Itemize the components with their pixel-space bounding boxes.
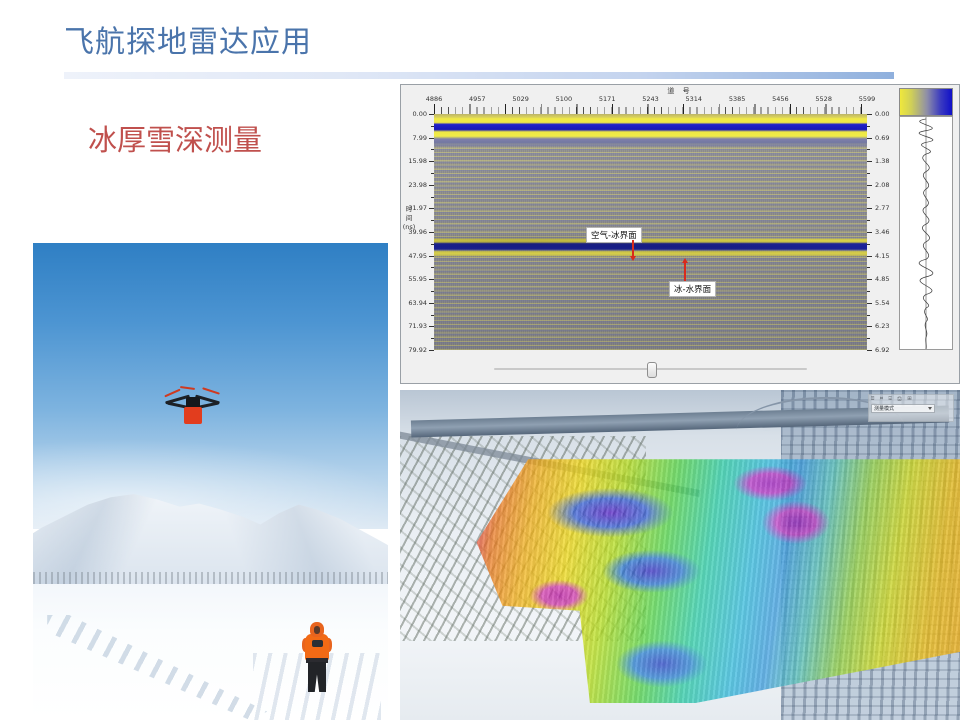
toolbar-icons[interactable]: ⌸ ⌗ ⌹ ⎙ ⊞ (871, 396, 951, 403)
time-tick-mark (429, 350, 434, 351)
radargram-panel[interactable]: 道 号 488649575029510051715243531453855456… (400, 84, 960, 384)
photo-drone-snowfield (33, 243, 388, 720)
depth-tick-label: 1.38 (875, 157, 889, 165)
time-tick-label: 7.99 (413, 134, 427, 142)
mode-dropdown-value: 测量模式 (874, 406, 894, 412)
photo-aerial-heatmap: ⌸ ⌗ ⌹ ⎙ ⊞ 测量模式 (400, 390, 960, 720)
arrow-down-icon (632, 240, 634, 256)
trace-tick-label: 4886 (426, 95, 443, 103)
chevron-down-icon (928, 407, 932, 410)
page-title: 飞航探地雷达应用 (64, 24, 312, 62)
trace-tick-label: 5171 (599, 95, 616, 103)
depth-tick-mark (867, 279, 872, 280)
trace-tick-label: 5528 (815, 95, 832, 103)
trace-ruler-major (434, 104, 867, 114)
time-tick-label: 0.00 (413, 110, 427, 118)
depth-tick-mark-minor (867, 220, 870, 221)
slider-thumb[interactable] (647, 362, 657, 378)
time-tick-label: 63.94 (408, 299, 427, 307)
time-axis-label-l1: 时 (400, 205, 418, 214)
trace-tick-label: 5456 (772, 95, 789, 103)
depth-tick-label: 2.08 (875, 181, 889, 189)
operator-person (296, 622, 339, 694)
annotation-ice-water: 冰-水界面 (669, 281, 716, 297)
time-tick-label: 47.95 (408, 252, 427, 260)
depth-tick-mark (867, 326, 872, 327)
title-divider (64, 72, 894, 79)
depth-tick-mark-minor (867, 315, 870, 316)
aerial-toolbar[interactable]: ⌸ ⌗ ⌹ ⎙ ⊞ 测量模式 (868, 394, 954, 422)
depth-axis: 0.000.691.382.082.773.464.154.855.546.23… (867, 114, 897, 350)
single-trace-waveform (899, 116, 953, 350)
mode-dropdown[interactable]: 测量模式 (871, 404, 935, 413)
time-tick-label: 15.98 (408, 157, 427, 165)
depth-tick-label: 0.69 (875, 134, 889, 142)
depth-tick-mark (867, 161, 872, 162)
trace-tick-label: 5029 (512, 95, 529, 103)
subtitle: 冰厚雪深测量 (88, 122, 262, 160)
time-tick-label: 23.98 (408, 181, 427, 189)
depth-tick-label: 6.92 (875, 346, 889, 354)
depth-tick-mark (867, 256, 872, 257)
trace-tick-label: 5314 (686, 95, 703, 103)
trace-tick-label: 5100 (556, 95, 573, 103)
depth-tick-mark (867, 303, 872, 304)
depth-tick-label: 4.85 (875, 275, 889, 283)
depth-tick-mark (867, 350, 872, 351)
colorbar (899, 88, 953, 116)
waveform-svg (900, 117, 952, 349)
time-tick-label: 55.95 (408, 275, 427, 283)
depth-tick-mark-minor (867, 173, 870, 174)
drone-payload (184, 407, 202, 424)
trace-tick-label: 5599 (859, 95, 876, 103)
horizontal-scroll-slider[interactable] (434, 361, 867, 377)
depth-tick-label: 6.23 (875, 322, 889, 330)
arrow-up-icon (684, 263, 686, 281)
depth-tick-mark-minor (867, 291, 870, 292)
time-axis-label-l3: (ns) (400, 223, 418, 232)
depth-tick-label: 2.77 (875, 204, 889, 212)
trace-tick-label: 4957 (469, 95, 486, 103)
time-axis: 0.007.9915.9823.9831.9739.9647.9555.9563… (401, 114, 434, 350)
depth-tick-label: 5.54 (875, 299, 889, 307)
depth-tick-mark-minor (867, 244, 870, 245)
slide-root: 飞航探地雷达应用 冰厚雪深测量 道 号 4886495750295100517 (0, 0, 960, 720)
depth-tick-mark (867, 208, 872, 209)
depth-tick-mark-minor (867, 267, 870, 268)
time-axis-label: 时 间 (ns) (400, 205, 418, 232)
radargram-image[interactable] (434, 114, 867, 350)
trace-tick-label: 5385 (729, 95, 746, 103)
depth-tick-mark-minor (867, 338, 870, 339)
depth-tick-mark-minor (867, 149, 870, 150)
time-tick-label: 79.92 (408, 346, 427, 354)
depth-tick-label: 4.15 (875, 252, 889, 260)
remote-controller (312, 640, 323, 646)
time-axis-label-l2: 间 (400, 214, 418, 223)
time-tick-label: 71.93 (408, 322, 427, 330)
depth-tick-label: 3.46 (875, 228, 889, 236)
depth-tick-mark-minor (867, 197, 870, 198)
depth-tick-label: 0.00 (875, 110, 889, 118)
drone-icon (164, 381, 221, 424)
depth-tick-mark (867, 114, 872, 115)
depth-tick-mark (867, 185, 872, 186)
depth-tick-mark-minor (867, 126, 870, 127)
depth-tick-mark (867, 232, 872, 233)
depth-tick-mark (867, 138, 872, 139)
trace-tick-label: 5243 (642, 95, 659, 103)
